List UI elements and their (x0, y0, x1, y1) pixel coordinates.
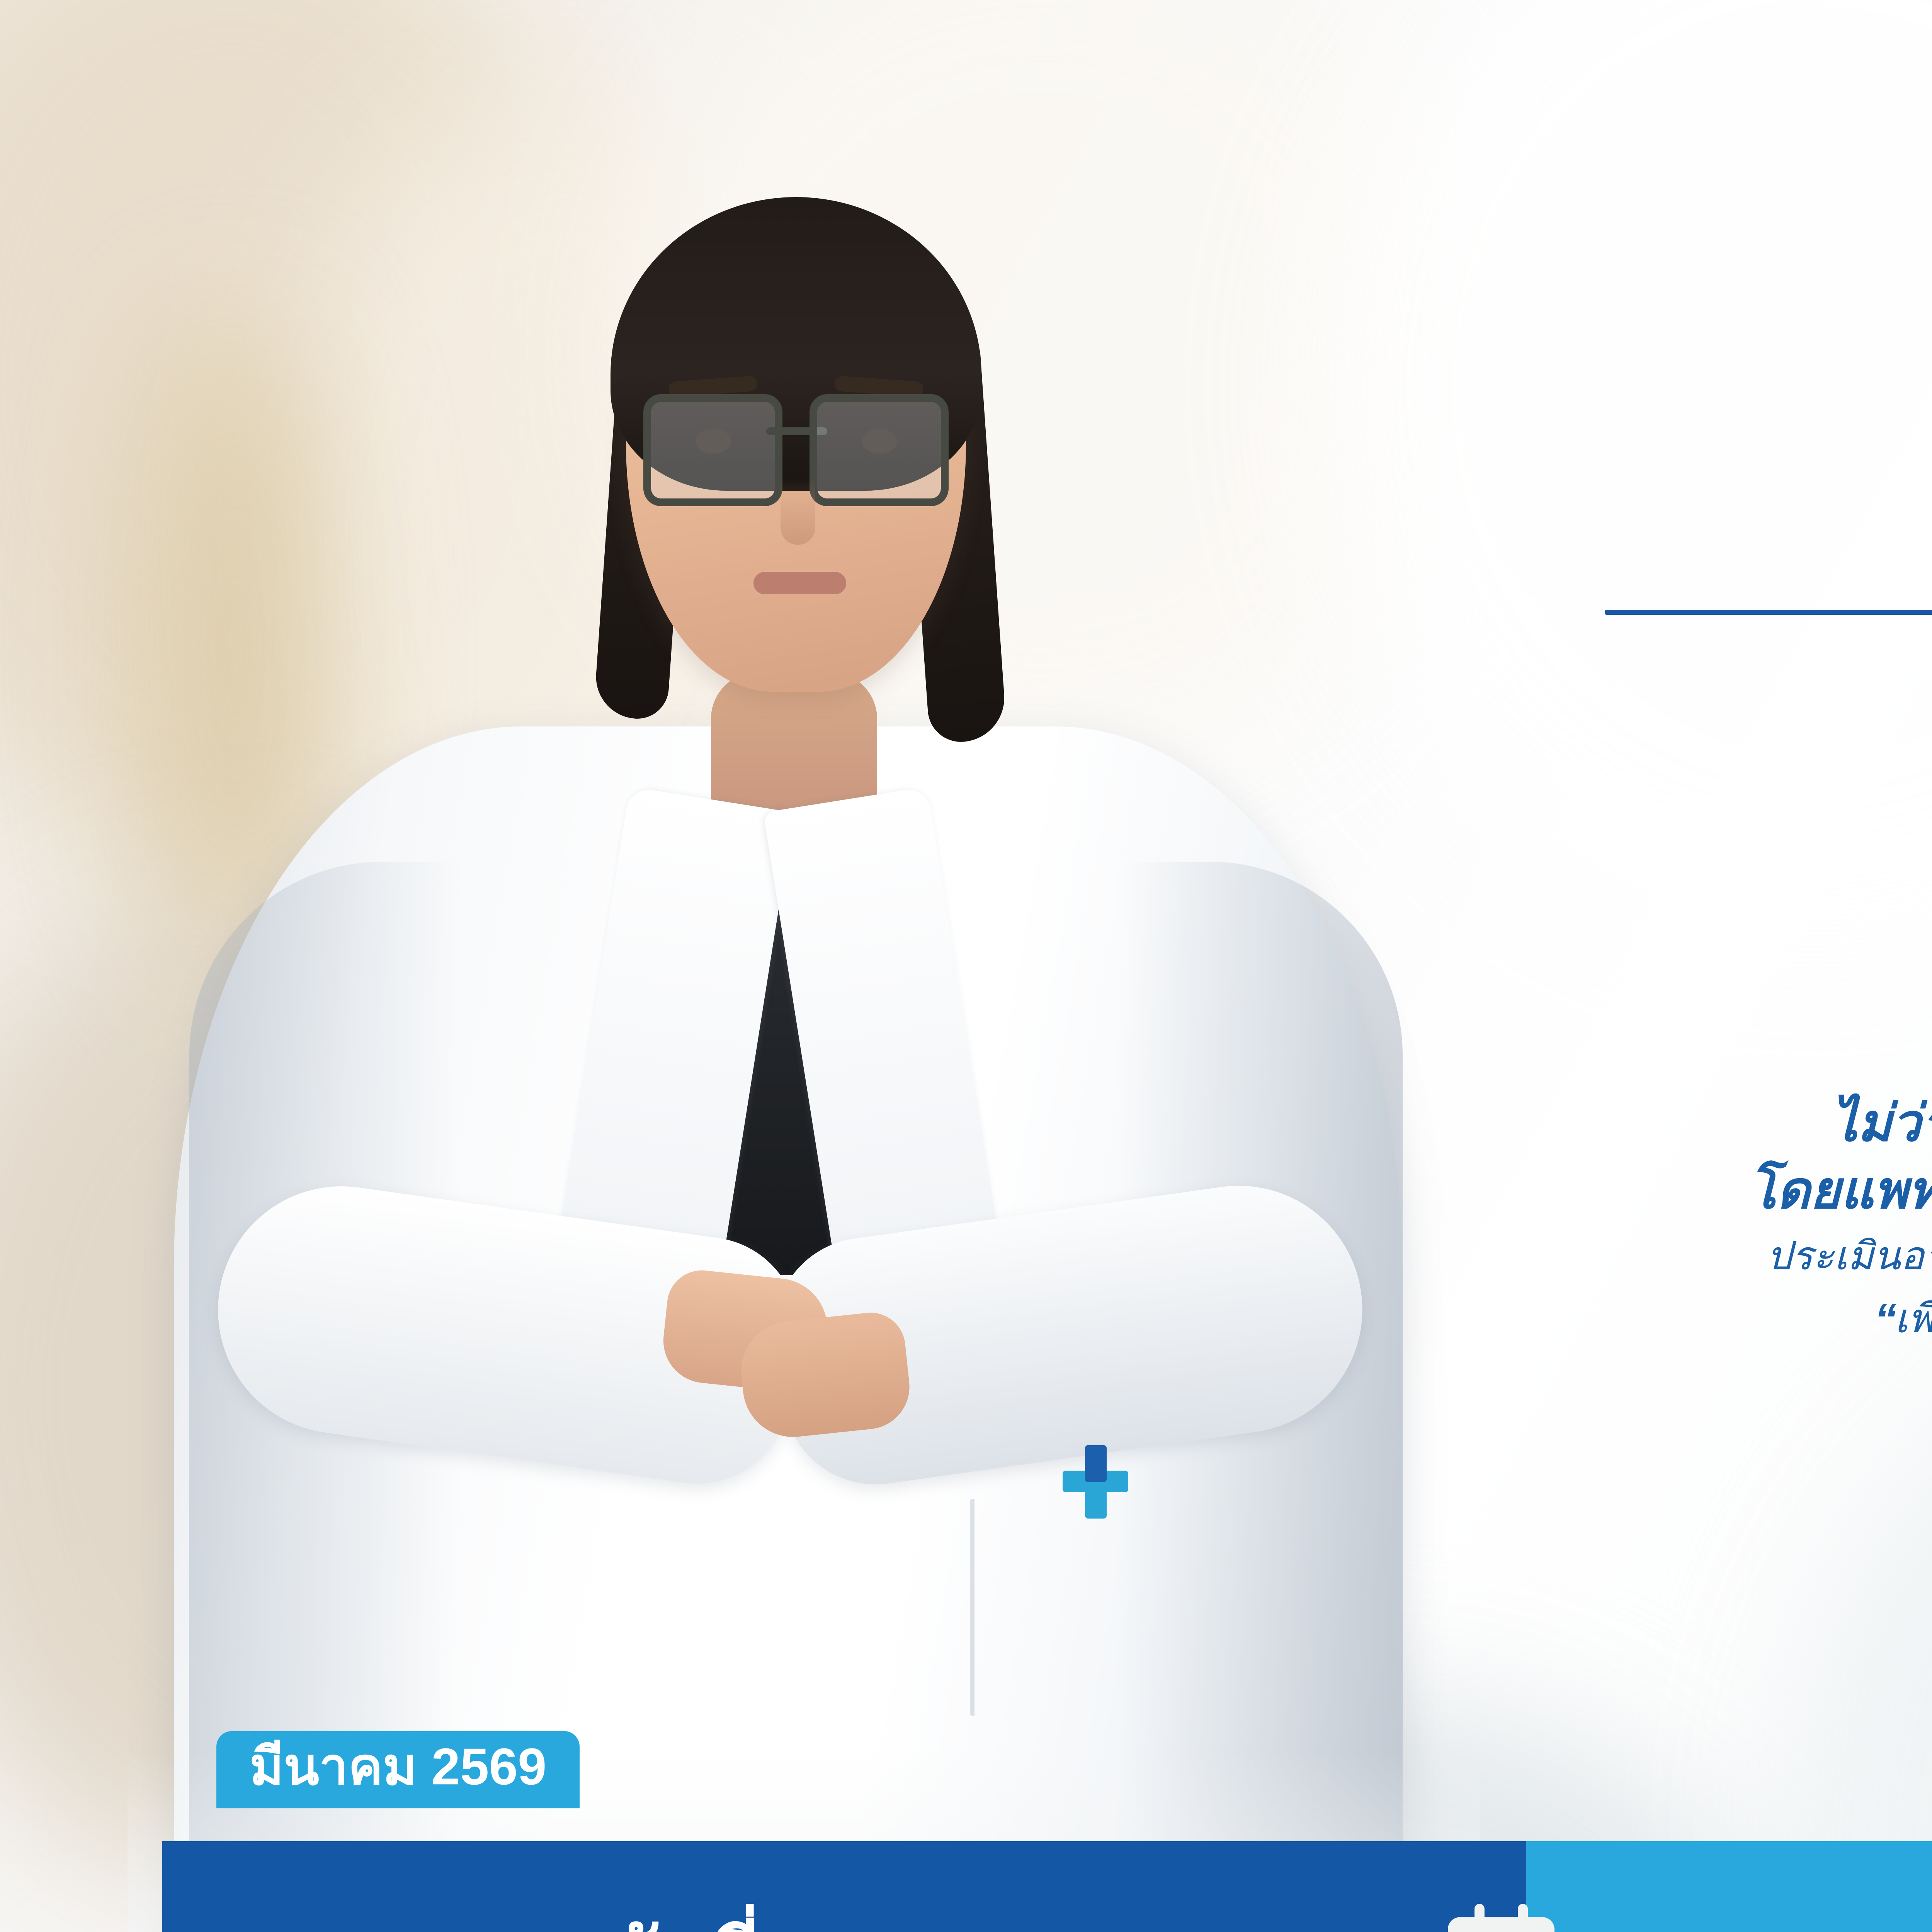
schedule-table: วันที่ออกตรวจ เวลาออกตรวจ วันพุธ (162, 1841, 1932, 1932)
license-number: เวชศาสตร์ฉุกเฉิน เลขที่ใบอนุญาต: ว.50605 (1596, 646, 1932, 710)
eyeglasses-icon (643, 394, 949, 491)
calendar-icon (1445, 1904, 1557, 1932)
tagline-line-3: ประเมินอาการทันที ด้วยมาตรฐานความปลอดภัย… (1507, 1230, 1932, 1282)
tagline-line-2: โดยแพทย์เฉพาะทางด้านเวชศาสตร์ฉุกเฉิน (1507, 1157, 1932, 1224)
column-header-date: วันที่ออกตรวจ (162, 1841, 1526, 1932)
tagline-quote: “เพื่อให้คุณกลับมาปลอดภัยโดยเร็วที่สุด” (1507, 1290, 1932, 1349)
doctor-info-panel: พญ.พรปวีณ ชื่นใจ เวชศาสตร์ฉุกเฉิน เวชศาส… (1596, 348, 1932, 710)
table-header-row: วันที่ออกตรวจ เวลาออกตรวจ (162, 1841, 1932, 1932)
doctor-portrait (128, 70, 1480, 1932)
hospital-cross-logo (1063, 1445, 1128, 1519)
tagline-block: ไม่ว่าฉุกเฉินแค่ไหน...เราพร้อมดูแล โดยแพ… (1507, 1090, 1932, 1349)
doctor-schedule-poster: พญ.พรปวีณ ชื่นใจ เวชศาสตร์ฉุกเฉิน เวชศาส… (0, 0, 1932, 1932)
doctor-specialty: เวชศาสตร์ฉุกเฉิน (1596, 463, 1932, 573)
quote-text: เพื่อให้คุณกลับมาปลอดภัยโดยเร็วที่สุด (1895, 1296, 1932, 1341)
quote-open-mark: “ (1874, 1294, 1895, 1344)
doctor-name: พญ.พรปวีณ ชื่นใจ (1596, 348, 1932, 461)
month-badge: มีนาคม 2569 (216, 1731, 580, 1808)
tagline-line-1: ไม่ว่าฉุกเฉินแค่ไหน...เราพร้อมดูแล (1507, 1090, 1932, 1157)
divider-line (1605, 610, 1932, 615)
column-header-time: เวลาออกตรวจ (1526, 1841, 1932, 1932)
